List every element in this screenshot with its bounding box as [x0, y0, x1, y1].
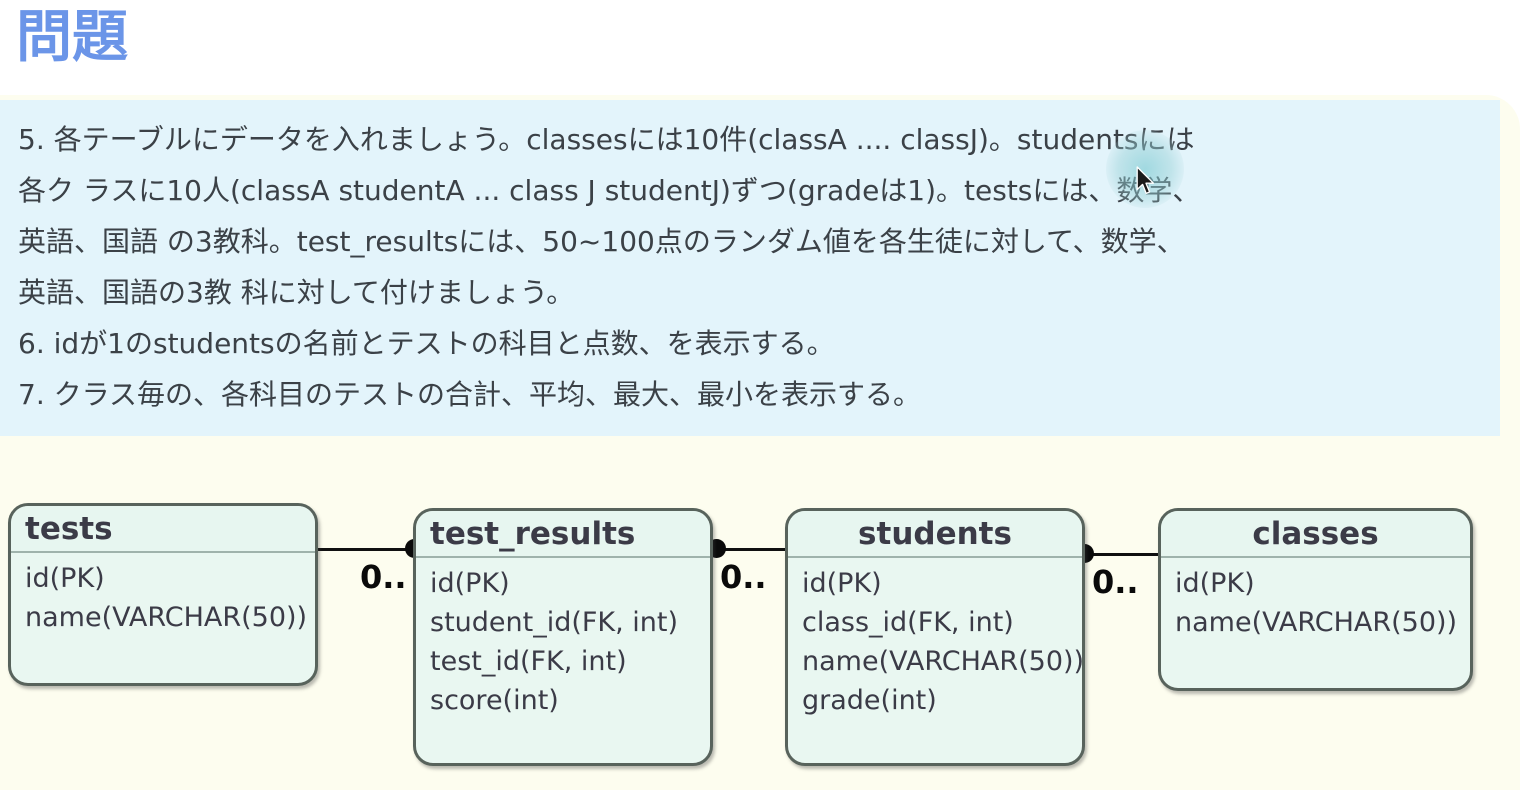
prompt-line-7: 7. クラス毎の、各科目のテストの合計、平均、最大、最小を表示する。 [18, 369, 1482, 420]
page-title: 問題 [16, 2, 128, 74]
screen-root: 問題 5. 各テーブルにデータを入れましょう。classesには10件(clas… [0, 0, 1520, 790]
prompt-line-5: 5. 各テーブルにデータを入れましょう。classesには10件(classA … [18, 114, 1482, 165]
prompt-line-5-cont-2: 英語、国語 の3教科。test_resultsには、50~100点のランダム値を… [18, 216, 1482, 267]
prompt-line-6: 6. idが1のstudentsの名前とテストの科目と点数、を表示する。 [18, 318, 1482, 369]
prompt-line-5-cont-3: 英語、国語の3教 科に対して付けましょう。 [18, 267, 1482, 318]
prompt-line-5-cont-1: 各ク ラスに10人(classA studentA ... class J st… [18, 165, 1482, 216]
prompt-panel: 5. 各テーブルにデータを入れましょう。classesには10件(classA … [0, 100, 1500, 436]
